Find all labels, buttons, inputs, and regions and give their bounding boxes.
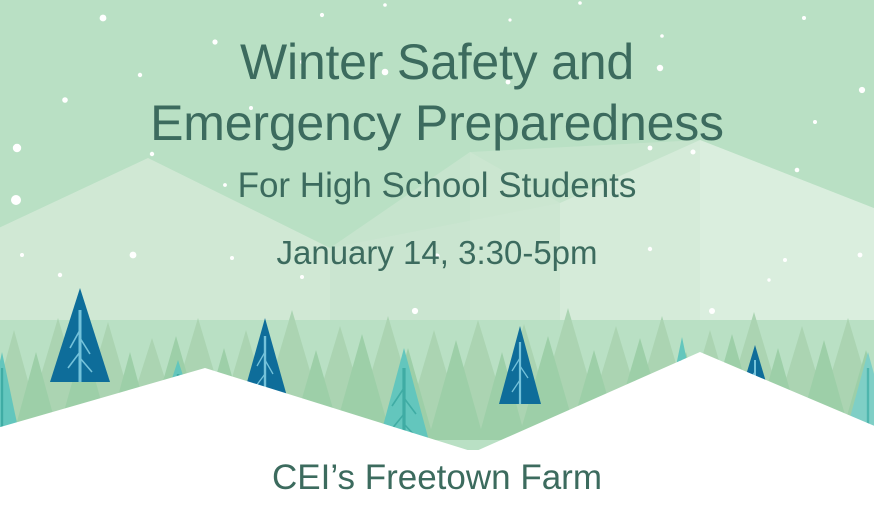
- snowflake: [320, 13, 324, 17]
- snowflake: [383, 3, 387, 7]
- poster-title-line-1: Winter Safety and: [0, 32, 874, 92]
- snowflake: [100, 15, 107, 22]
- snowflake: [709, 308, 715, 314]
- snowflake: [578, 1, 582, 5]
- snowflake: [300, 275, 304, 279]
- snowflake: [412, 308, 418, 314]
- winter-safety-poster: Winter Safety and Emergency Preparedness…: [0, 0, 874, 512]
- poster-date-time: January 14, 3:30-5pm: [0, 232, 874, 274]
- poster-venue: CEI’s Freetown Farm: [0, 455, 874, 501]
- poster-title-line-2: Emergency Preparedness: [0, 93, 874, 153]
- poster-subtitle: For High School Students: [0, 164, 874, 208]
- snowflake: [767, 278, 770, 281]
- snowflake: [508, 18, 511, 21]
- snowflake: [802, 16, 806, 20]
